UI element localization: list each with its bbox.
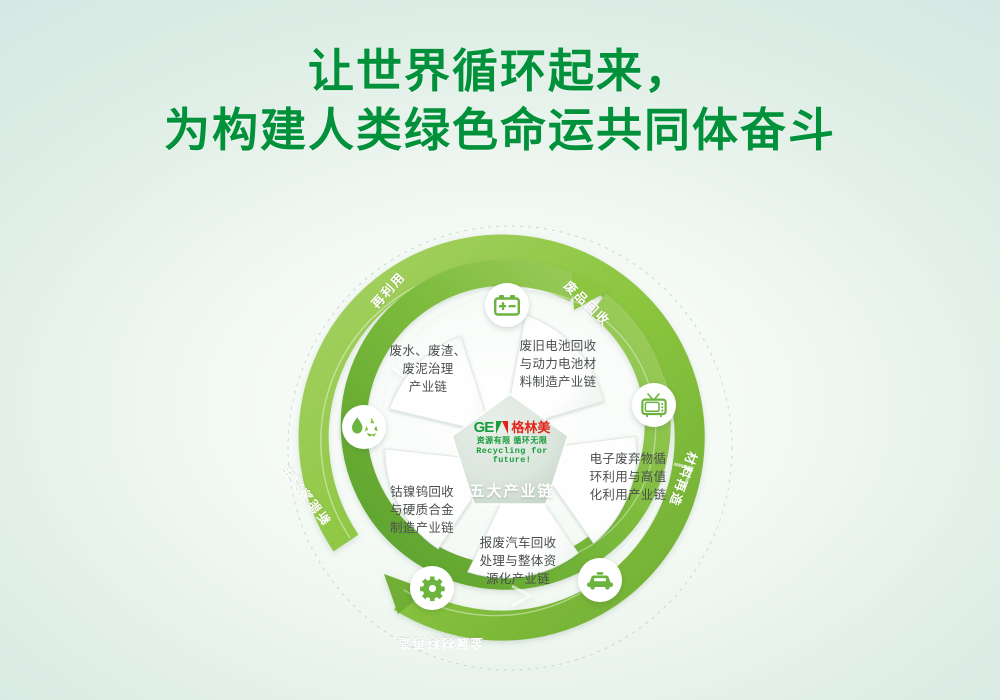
water-recycle-icon	[349, 415, 379, 439]
page-title: 让世界循环起来， 为构建人类绿色命运共同体奋斗	[0, 42, 1000, 160]
tv-icon	[641, 393, 667, 418]
title-line-1: 让世界循环起来，	[0, 42, 1000, 101]
battery-icon-bubble[interactable]	[485, 283, 529, 327]
title-line-2: 为构建人类绿色命运共同体奋斗	[0, 101, 1000, 160]
tv-icon-bubble[interactable]	[632, 383, 676, 427]
circular-economy-diagram: 废品回收 再利用 材料再造 金属材料再造 新能源汽车 废旧电池回收 与动力电池材…	[280, 218, 740, 678]
car-icon-bubble[interactable]	[578, 558, 622, 602]
gear-icon-bubble[interactable]	[410, 566, 454, 610]
gear-icon	[420, 576, 445, 601]
water-recycle-icon-bubble[interactable]	[342, 405, 386, 449]
battery-icon	[494, 294, 520, 316]
car-icon	[586, 571, 614, 590]
